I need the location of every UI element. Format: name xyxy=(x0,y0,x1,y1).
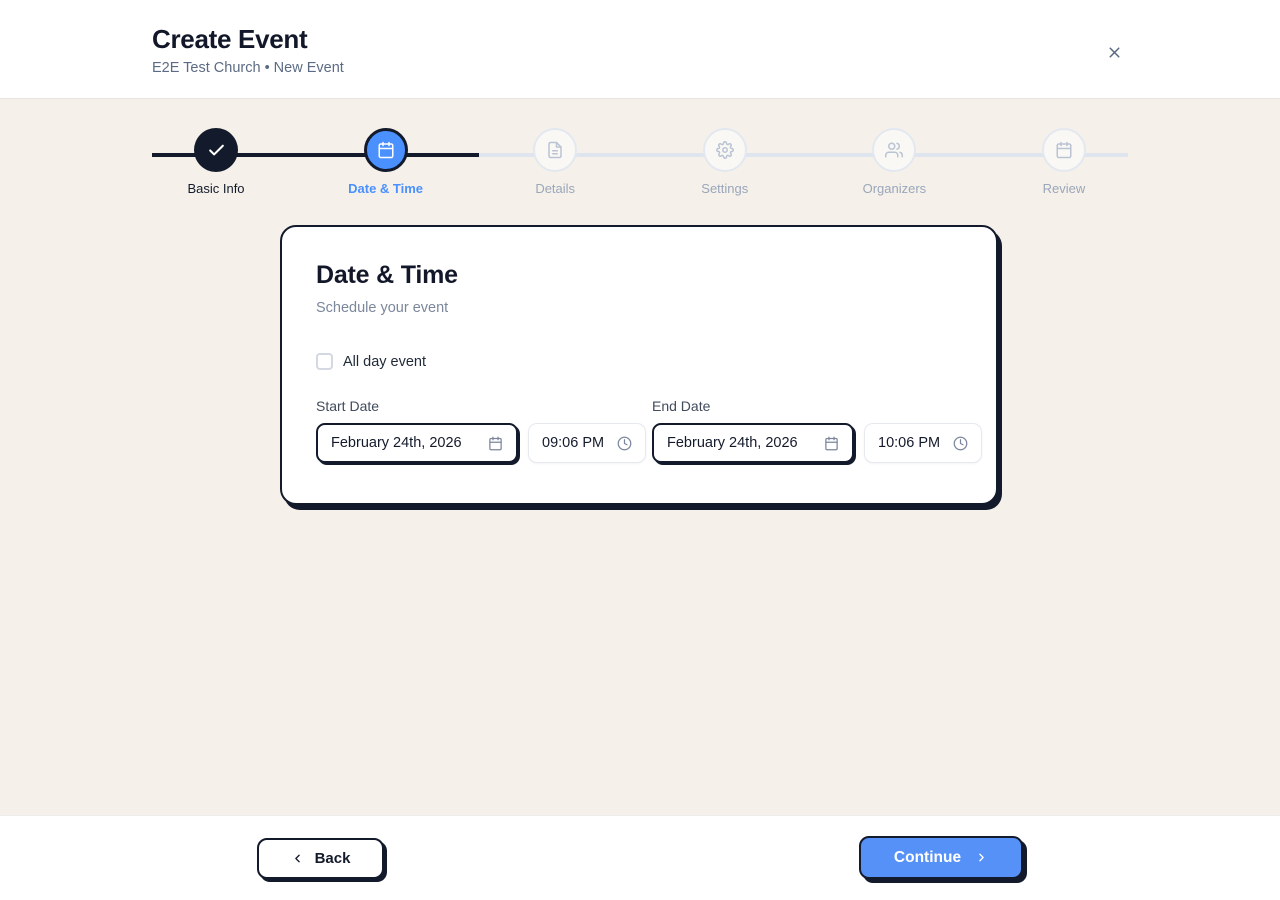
step-indicator-organizers xyxy=(872,128,916,172)
all-day-checkbox[interactable] xyxy=(316,353,333,370)
step-indicator-basic-info xyxy=(194,128,238,172)
dialog-footer: Back Continue xyxy=(0,815,1280,900)
wizard-stepper: Basic Info Date & Time xyxy=(152,128,1128,218)
end-date-row: February 24th, 2026 10:06 PM xyxy=(652,423,988,463)
document-icon xyxy=(546,141,564,159)
end-time-value: 10:06 PM xyxy=(878,435,940,451)
dialog-header: Create Event E2E Test Church • New Event xyxy=(0,0,1280,99)
calendar-icon xyxy=(377,141,395,159)
end-date-group: End Date February 24th, 2026 xyxy=(652,398,988,463)
end-time-input[interactable]: 10:06 PM xyxy=(864,423,982,463)
end-date-input[interactable]: February 24th, 2026 xyxy=(652,423,854,463)
stepper-item-date-time[interactable]: Date & Time xyxy=(322,128,450,196)
all-day-label[interactable]: All day event xyxy=(343,354,426,370)
start-date-group: Start Date February 24th, 2026 xyxy=(316,398,652,463)
users-icon xyxy=(885,141,903,159)
stepper-item-settings[interactable]: Settings xyxy=(661,128,789,196)
calendar-icon xyxy=(1055,141,1073,159)
stepper-label-organizers: Organizers xyxy=(863,181,927,196)
stepper-item-organizers[interactable]: Organizers xyxy=(830,128,958,196)
dialog-body: Basic Info Date & Time xyxy=(0,99,1280,815)
stepper-item-basic-info[interactable]: Basic Info xyxy=(152,128,280,196)
start-date-value: February 24th, 2026 xyxy=(331,435,462,451)
page-title: Create Event xyxy=(152,22,344,56)
breadcrumb: E2E Test Church • New Event xyxy=(152,57,344,79)
calendar-icon xyxy=(488,436,503,451)
close-icon xyxy=(1106,44,1123,61)
start-date-input[interactable]: February 24th, 2026 xyxy=(316,423,518,463)
clock-icon xyxy=(953,436,968,451)
date-time-card: Date & Time Schedule your event All day … xyxy=(280,225,998,505)
header-titles: Create Event E2E Test Church • New Event xyxy=(152,22,344,79)
start-date-row: February 24th, 2026 09:06 PM xyxy=(316,423,652,463)
stepper-label-details: Details xyxy=(535,181,575,196)
stepper-label-basic-info: Basic Info xyxy=(187,181,244,196)
stepper-label-settings: Settings xyxy=(701,181,748,196)
continue-button-label: Continue xyxy=(894,849,961,867)
stepper-label-date-time: Date & Time xyxy=(348,181,423,196)
calendar-icon xyxy=(824,436,839,451)
end-date-value: February 24th, 2026 xyxy=(667,435,798,451)
step-indicator-settings xyxy=(703,128,747,172)
stepper-label-review: Review xyxy=(1043,181,1086,196)
step-indicator-date-time xyxy=(364,128,408,172)
gear-icon xyxy=(716,141,734,159)
stepper-steps: Basic Info Date & Time xyxy=(152,128,1128,196)
end-date-label: End Date xyxy=(652,398,988,414)
stepper-item-details[interactable]: Details xyxy=(491,128,619,196)
chevron-right-icon xyxy=(975,851,988,864)
check-icon xyxy=(207,141,226,160)
back-button-label: Back xyxy=(315,850,351,867)
start-date-label: Start Date xyxy=(316,398,652,414)
clock-icon xyxy=(617,436,632,451)
start-time-input[interactable]: 09:06 PM xyxy=(528,423,646,463)
stepper-item-review[interactable]: Review xyxy=(1000,128,1128,196)
continue-button[interactable]: Continue xyxy=(859,836,1023,879)
step-indicator-details xyxy=(533,128,577,172)
back-button[interactable]: Back xyxy=(257,838,384,879)
chevron-left-icon xyxy=(291,852,304,865)
all-day-event-row: All day event xyxy=(316,353,962,370)
date-time-fields: Start Date February 24th, 2026 xyxy=(316,398,962,463)
card-subtitle: Schedule your event xyxy=(316,300,962,316)
close-button[interactable] xyxy=(1100,38,1128,66)
start-time-value: 09:06 PM xyxy=(542,435,604,451)
card-title: Date & Time xyxy=(316,261,962,290)
step-indicator-review xyxy=(1042,128,1086,172)
